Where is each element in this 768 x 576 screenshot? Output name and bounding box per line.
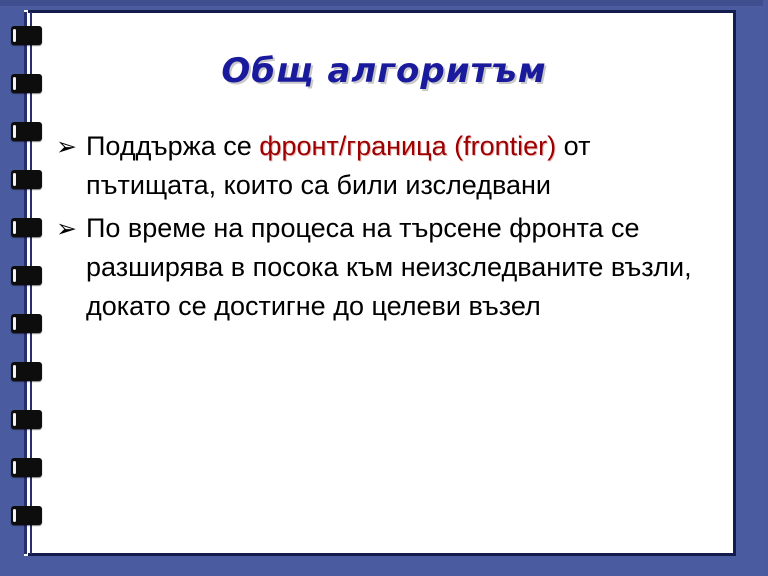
list-item: ➢ Поддържа се фронт/граница (frontier) о… (56, 127, 716, 205)
frame-top-band (0, 0, 768, 6)
spiral-ring (11, 26, 42, 45)
spiral-ring (11, 362, 42, 381)
spiral-binding (0, 0, 48, 576)
list-item-text: Поддържа се фронт/граница (frontier) от … (86, 127, 716, 205)
slide-canvas: Общ алгоритъм ➢ Поддържа се фронт/границ… (0, 0, 768, 576)
arrow-bullet-icon: ➢ (56, 209, 86, 248)
slide-title: Общ алгоритъм (48, 54, 720, 90)
spiral-ring (11, 170, 42, 189)
bullet-lead-text: По време на процеса на търсене фронта се… (86, 213, 692, 321)
spiral-ring (11, 74, 42, 93)
bullet-emphasis-text: фронт/граница (frontier) (259, 131, 556, 161)
frame-right-band (763, 0, 768, 576)
slide-body: ➢ Поддържа се фронт/граница (frontier) о… (56, 127, 716, 330)
spiral-ring (11, 218, 42, 237)
spiral-ring (11, 266, 42, 285)
bullet-lead-text: Поддържа се (86, 131, 259, 161)
spiral-ring (11, 410, 42, 429)
arrow-bullet-icon: ➢ (56, 127, 86, 166)
list-item-text: По време на процеса на търсене фронта се… (86, 209, 716, 326)
spiral-ring (11, 458, 42, 477)
list-item: ➢ По време на процеса на търсене фронта … (56, 209, 716, 326)
spiral-ring (11, 506, 42, 525)
spiral-ring (11, 314, 42, 333)
spiral-ring (11, 122, 42, 141)
